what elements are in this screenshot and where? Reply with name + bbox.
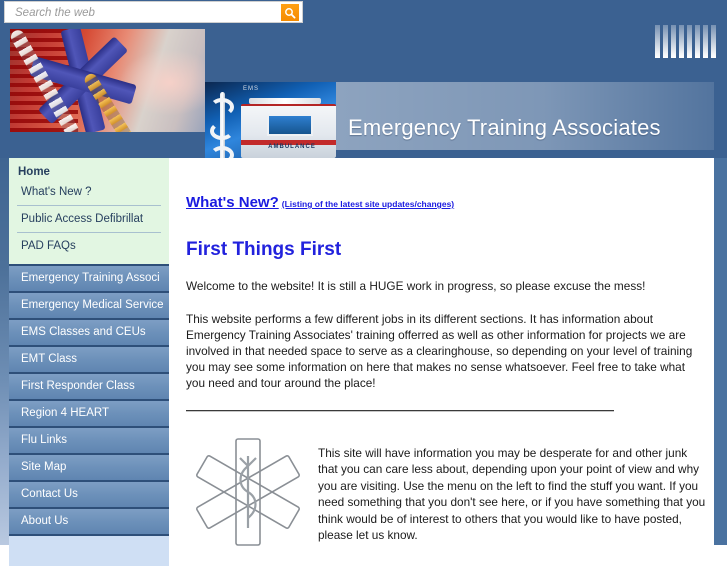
content-divider [186,410,614,412]
sidebar-divider [17,205,161,206]
sidebar-item-site-map[interactable]: Site Map [9,455,169,482]
search-button[interactable] [281,4,299,21]
ambulance-word: AMBULANCE [257,144,327,150]
paragraph-welcome: Welcome to the website! It is still a HU… [186,278,694,294]
sidebar-item-ems-classes-and-ceus[interactable]: EMS Classes and CEUs [9,320,169,347]
sidebar-item-whats-new[interactable]: What's New ? [9,182,169,202]
whats-new-line: What's New?(Listing of the latest site u… [186,194,706,212]
search-icon [284,7,296,19]
right-edge-strip [714,158,727,545]
page-title: Emergency Training Associates [348,115,661,141]
sidebar-footer-filler [9,536,169,566]
sidebar-item-pad-faqs[interactable]: PAD FAQs [9,236,169,256]
sidebar-item-home[interactable]: Home [9,164,169,182]
search-input[interactable] [15,5,270,21]
sidebar-item-contact-us[interactable]: Contact Us [9,482,169,509]
search-bar [0,0,727,25]
banner-bars-decoration [655,25,721,58]
sidebar-item-public-access-defibrillation[interactable]: Public Access Defibrillat [9,209,169,229]
lower-content-block: This site will have information you may … [186,433,706,553]
chain-star-of-life-flag-collage [10,29,205,132]
sidebar-item-emergency-medical-services[interactable]: Emergency Medical Service [9,293,169,320]
sidebar-top-section: Home What's New ? Public Access Defibril… [9,158,169,266]
sidebar-item-emt-class[interactable]: EMT Class [9,347,169,374]
caduceus-rod-icon [209,92,235,158]
sidebar-item-region-4-heart[interactable]: Region 4 HEART [9,401,169,428]
sidebar-divider [17,232,161,233]
sidebar-item-flu-links[interactable]: Flu Links [9,428,169,455]
sidebar-item-emergency-training-associates[interactable]: Emergency Training Associ [9,266,169,293]
sidebar-item-first-responder-class[interactable]: First Responder Class [9,374,169,401]
site-banner: EMS AMBULANCE Emergency Training Associa… [0,25,727,158]
left-edge-strip [0,158,9,545]
whats-new-link[interactable]: What's New? [186,194,279,211]
sidebar-item-about-us[interactable]: About Us [9,509,169,536]
main-content: What's New?(Listing of the latest site u… [186,158,706,553]
section-heading-first-things-first: First Things First [186,239,706,261]
whats-new-note[interactable]: (Listing of the latest site updates/chan… [282,199,454,209]
paragraph-site-description: This website performs a few different jo… [186,311,694,391]
ambulance-photo: EMS AMBULANCE [205,82,336,158]
search-box[interactable] [4,1,303,23]
star-of-life-us-flag-image [186,436,310,548]
sidebar-navigation: Home What's New ? Public Access Defibril… [9,158,169,566]
paragraph-site-usage: This site will have information you may … [318,445,706,544]
ambulance-ems-badge: EMS [243,86,259,92]
